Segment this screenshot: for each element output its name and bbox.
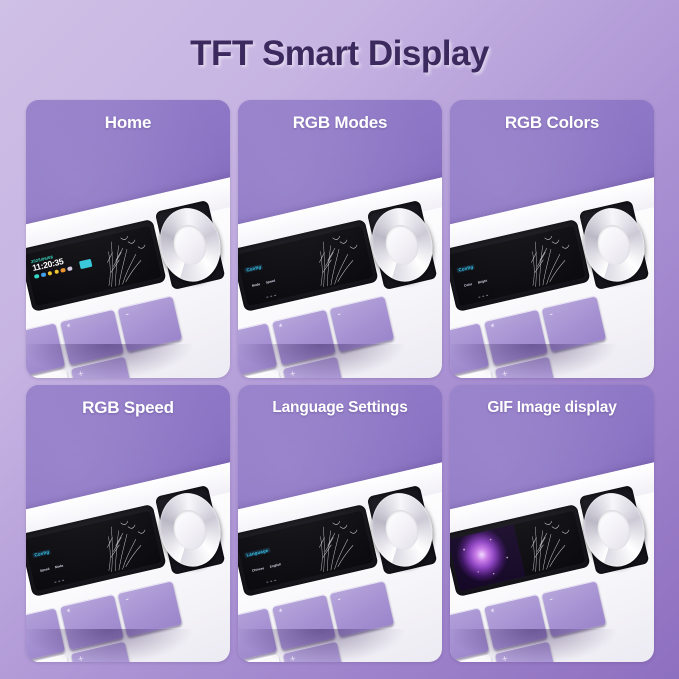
screen-option[interactable]: Mode bbox=[54, 562, 63, 569]
card-title-rgb-speed: RGB Speed bbox=[26, 385, 230, 431]
line-art-icon bbox=[301, 510, 373, 575]
screen-options: Chinese English bbox=[248, 555, 304, 573]
keyboard-shadow bbox=[26, 629, 230, 662]
keyboard-shadow bbox=[238, 629, 442, 662]
keycap-label: - bbox=[124, 594, 130, 604]
keycap-label: * bbox=[66, 323, 72, 334]
page-title: TFT Smart Display bbox=[0, 34, 679, 74]
card-title-home: Home bbox=[26, 100, 230, 146]
feature-card-home[interactable]: 2025/06/08 11:20:35 bbox=[26, 100, 230, 378]
option-label: Bright bbox=[477, 279, 487, 285]
card-title-gif-image-display: GIF Image display bbox=[450, 385, 654, 431]
screen-artwork bbox=[513, 225, 585, 290]
feature-card-gif-image-display[interactable]: Delete Num / * - 7 8 9 + bbox=[450, 385, 654, 663]
screen-header: Config bbox=[244, 264, 263, 273]
screen-header: Language bbox=[244, 547, 270, 558]
light-icon bbox=[53, 269, 59, 275]
screen-header: Config bbox=[456, 264, 475, 273]
feature-card-rgb-modes[interactable]: Config Mode Speed bbox=[238, 100, 442, 378]
screen-options: Speed Mode bbox=[36, 555, 92, 573]
line-art-icon bbox=[89, 510, 161, 575]
screen-config-panel: Config Speed Mode bbox=[26, 524, 101, 591]
option-label: Speed bbox=[39, 566, 49, 572]
option-label: English bbox=[269, 562, 281, 568]
screen-artwork bbox=[89, 225, 161, 290]
screen-option[interactable]: Speed bbox=[265, 278, 275, 285]
line-art-icon bbox=[301, 225, 373, 290]
keycap-label: - bbox=[336, 594, 342, 604]
page-dots bbox=[54, 579, 64, 583]
wifi-icon bbox=[34, 274, 40, 280]
option-label: Mode bbox=[54, 563, 63, 569]
screen-option[interactable]: Mode bbox=[251, 281, 260, 288]
screen-artwork bbox=[301, 225, 373, 290]
keycap-label: * bbox=[66, 608, 72, 619]
bluetooth-icon bbox=[40, 272, 46, 278]
screen-option[interactable]: Chinese bbox=[251, 565, 264, 573]
page-dots bbox=[266, 294, 276, 298]
screen-config-panel: Config Color Bright bbox=[450, 239, 525, 306]
screen-option[interactable]: Color bbox=[463, 281, 472, 288]
screen-config-panel: Config Mode Speed bbox=[238, 239, 313, 306]
gif-image bbox=[450, 524, 525, 591]
screen-artwork bbox=[89, 510, 161, 575]
line-art-icon bbox=[89, 225, 161, 290]
card-grid: 2025/06/08 11:20:35 bbox=[26, 100, 654, 662]
keycap-label: * bbox=[278, 608, 284, 619]
option-label: Speed bbox=[265, 279, 275, 285]
screen-options: Color Bright bbox=[460, 271, 516, 289]
keycap-label: - bbox=[548, 594, 554, 604]
keycap-label: * bbox=[490, 323, 496, 334]
screen-option[interactable]: English bbox=[269, 561, 281, 568]
screen-artwork bbox=[301, 510, 373, 575]
volume-icon bbox=[67, 266, 73, 272]
page-dots bbox=[478, 294, 488, 298]
feature-card-rgb-speed[interactable]: Config Speed Mode bbox=[26, 385, 230, 663]
lock-icon bbox=[47, 271, 53, 277]
card-title-language-settings: Language Settings bbox=[238, 385, 442, 431]
line-art-icon bbox=[513, 225, 585, 290]
screen-option[interactable]: Bright bbox=[477, 278, 487, 285]
card-title-rgb-colors: RGB Colors bbox=[450, 100, 654, 146]
screen-option[interactable]: Speed bbox=[39, 565, 49, 572]
keyboard-shadow bbox=[450, 344, 654, 377]
screen-header: Config bbox=[32, 549, 51, 558]
page-dots bbox=[266, 579, 276, 583]
keycap-label: - bbox=[548, 310, 554, 320]
battery-indicator bbox=[79, 259, 92, 270]
keyboard-shadow bbox=[238, 344, 442, 377]
keyboard-shadow bbox=[26, 344, 230, 377]
option-label: Mode bbox=[251, 282, 260, 288]
screen-config-panel: Language Chinese English bbox=[238, 524, 313, 591]
keycap-label: - bbox=[336, 310, 342, 320]
keycap-label: * bbox=[278, 323, 284, 334]
keycap-label: * bbox=[490, 608, 496, 619]
feature-card-rgb-colors[interactable]: Config Color Bright bbox=[450, 100, 654, 378]
feature-card-language-settings[interactable]: Language Chinese English bbox=[238, 385, 442, 663]
screen-artwork bbox=[513, 510, 585, 575]
card-title-rgb-modes: RGB Modes bbox=[238, 100, 442, 146]
screen-options: Mode Speed bbox=[248, 271, 304, 289]
option-label: Color bbox=[463, 282, 472, 288]
battery-icon bbox=[60, 268, 66, 274]
option-label: Chinese bbox=[251, 566, 264, 573]
keycap-label: - bbox=[124, 310, 130, 320]
line-art-icon bbox=[513, 510, 585, 575]
keyboard-shadow bbox=[450, 629, 654, 662]
screen-home-panel: 2025/06/08 11:20:35 bbox=[26, 239, 101, 306]
